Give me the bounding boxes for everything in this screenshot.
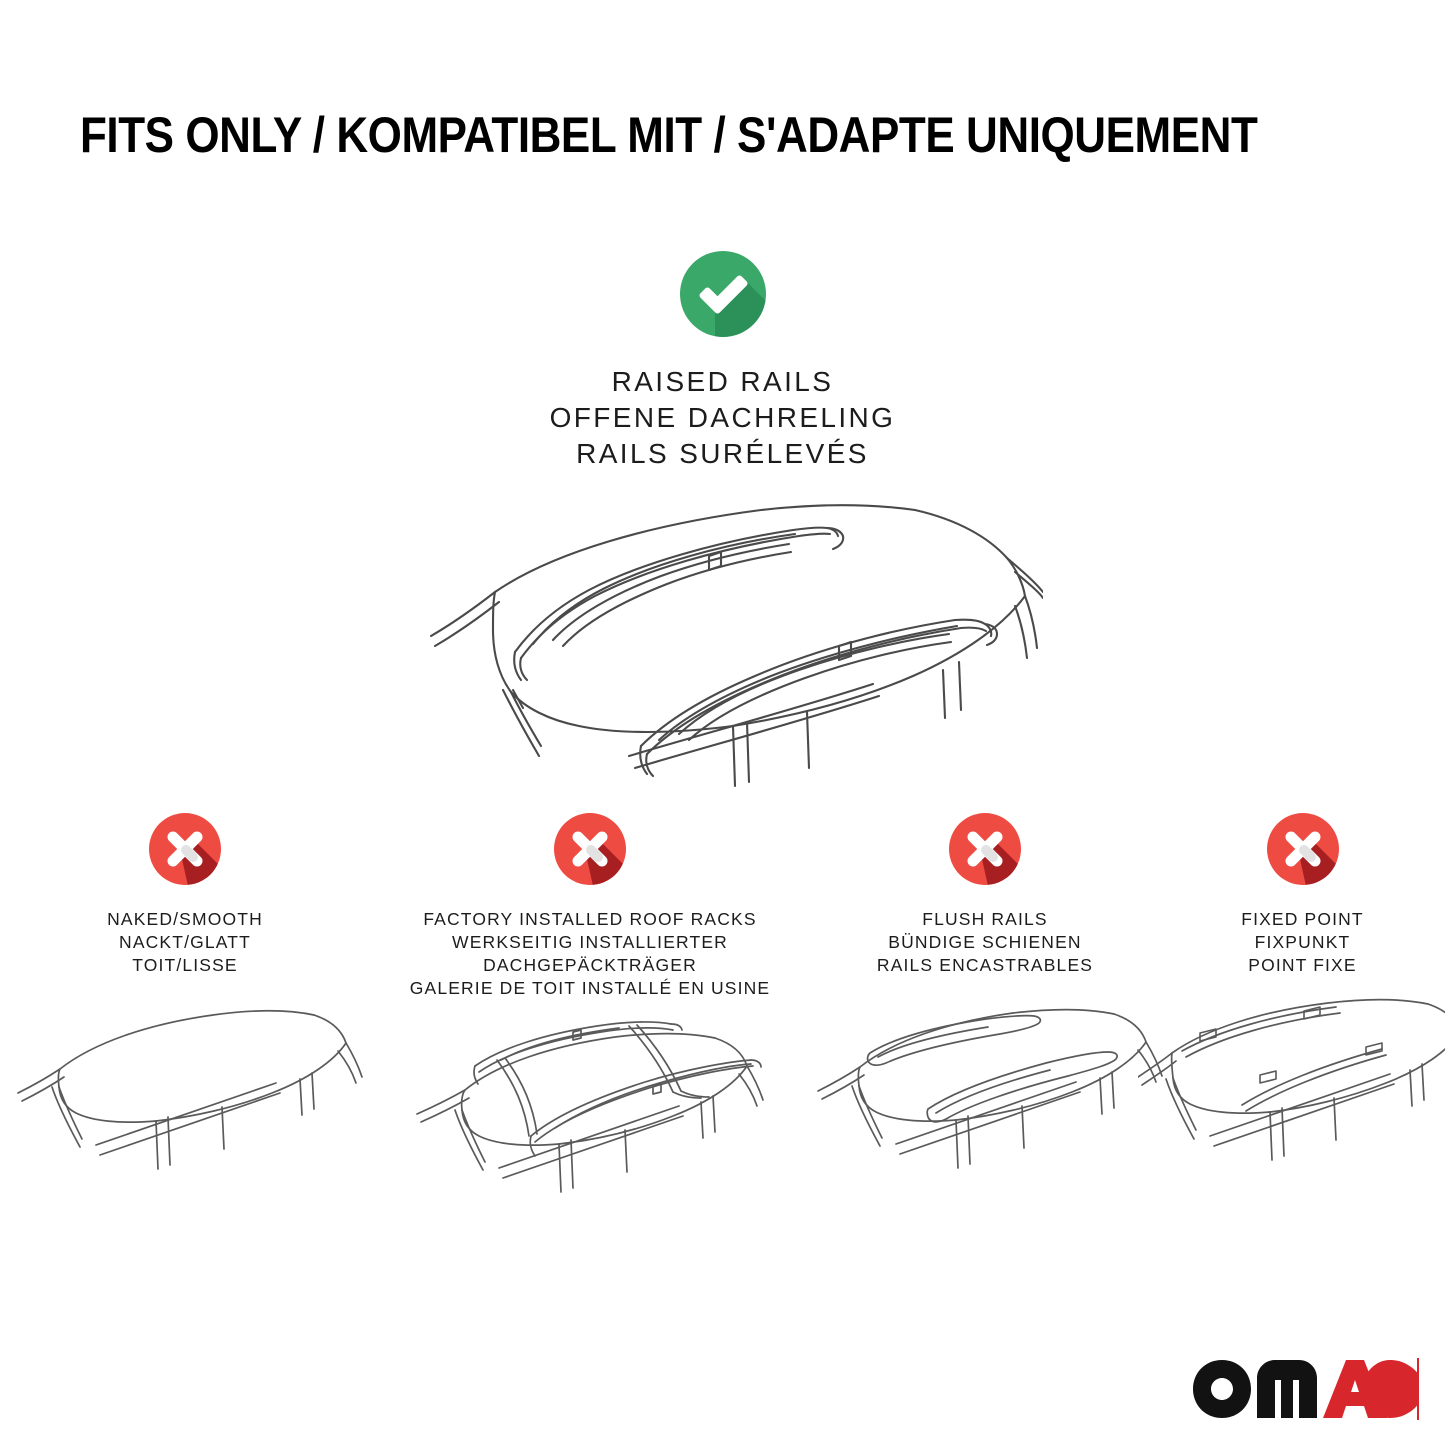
- incompatible-caption: FLUSH RAILS BÜNDIGE SCHIENEN RAILS ENCAS…: [877, 908, 1093, 977]
- car-roof-with-raised-rails-illustration: [403, 494, 1043, 794]
- compatible-caption: RAISED RAILS OFFENE DACHRELING RAILS SUR…: [550, 364, 896, 472]
- incompatible-caption-line: NACKT/GLATT: [107, 931, 263, 954]
- incompatible-caption-line: POINT FIXE: [1241, 954, 1364, 977]
- car-roof-with-factory-cross-bars-illustration: [405, 1014, 775, 1229]
- incompatible-option-factory-roof-racks: FACTORY INSTALLED ROOF RACKS WERKSEITIG …: [370, 812, 810, 1229]
- incompatible-caption: FIXED POINT FIXPUNKT POINT FIXE: [1241, 908, 1364, 977]
- car-roof-bare-smooth-illustration: [8, 991, 363, 1206]
- car-roof-with-fixed-points-illustration: [1138, 991, 1445, 1206]
- incompatible-caption-line: WERKSEITIG INSTALLIERTER: [410, 931, 771, 954]
- incompatible-caption-line: DACHGEPÄCKTRÄGER: [410, 954, 771, 977]
- incompatible-caption-line: FIXED POINT: [1241, 908, 1364, 931]
- incompatible-caption: NAKED/SMOOTH NACKT/GLATT TOIT/LISSE: [107, 908, 263, 977]
- car-roof-with-flush-rails-illustration: [808, 991, 1163, 1206]
- incompatible-caption-line: TOIT/LISSE: [107, 954, 263, 977]
- incompatible-option-fixed-point: FIXED POINT FIXPUNKT POINT FIXE: [1160, 812, 1445, 1206]
- incompatible-option-naked-smooth: NAKED/SMOOTH NACKT/GLATT TOIT/LISSE: [0, 812, 370, 1206]
- incompatible-option-flush-rails: FLUSH RAILS BÜNDIGE SCHIENEN RAILS ENCAS…: [810, 812, 1160, 1206]
- omac-logo: OMAC: [1191, 1358, 1419, 1420]
- check-circle-icon: [679, 250, 767, 338]
- cross-circle-icon: [553, 812, 627, 886]
- incompatible-caption-line: GALERIE DE TOIT INSTALLÉ EN USINE: [410, 977, 771, 1000]
- incompatible-caption: FACTORY INSTALLED ROOF RACKS WERKSEITIG …: [410, 908, 771, 1000]
- incompatible-caption-line: NAKED/SMOOTH: [107, 908, 263, 931]
- compatible-caption-line: RAILS SURÉLEVÉS: [550, 436, 896, 472]
- incompatible-caption-line: FACTORY INSTALLED ROOF RACKS: [410, 908, 771, 931]
- incompatible-section: NAKED/SMOOTH NACKT/GLATT TOIT/LISSE: [0, 812, 1445, 1229]
- page-title: FITS ONLY / KOMPATIBEL MIT / S'ADAPTE UN…: [80, 106, 1257, 164]
- compatible-caption-line: OFFENE DACHRELING: [550, 400, 896, 436]
- cross-circle-icon: [1266, 812, 1340, 886]
- incompatible-caption-line: RAILS ENCASTRABLES: [877, 954, 1093, 977]
- compatible-caption-line: RAISED RAILS: [550, 364, 896, 400]
- incompatible-caption-line: FIXPUNKT: [1241, 931, 1364, 954]
- incompatible-caption-line: FLUSH RAILS: [877, 908, 1093, 931]
- incompatible-caption-line: BÜNDIGE SCHIENEN: [877, 931, 1093, 954]
- cross-circle-icon: [148, 812, 222, 886]
- cross-circle-icon: [948, 812, 1022, 886]
- compatible-section: RAISED RAILS OFFENE DACHRELING RAILS SUR…: [0, 250, 1445, 794]
